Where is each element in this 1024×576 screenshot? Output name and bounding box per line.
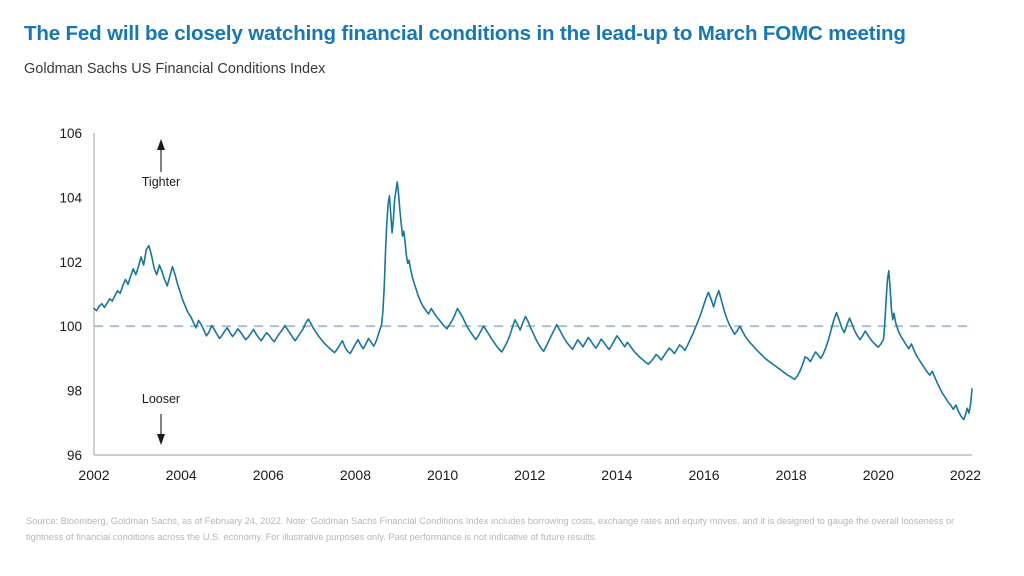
x-tick-label: 2016 bbox=[688, 467, 719, 483]
x-tick-label: 2006 bbox=[253, 467, 284, 483]
x-tick-label: 2020 bbox=[863, 467, 894, 483]
tighter-label: Tighter bbox=[142, 175, 180, 189]
y-tick-label: 106 bbox=[59, 126, 82, 141]
x-tick-label: 2010 bbox=[427, 467, 458, 483]
x-tick-label: 2014 bbox=[601, 467, 632, 483]
chart-container: 9698100102104106 20022004200620082010201… bbox=[0, 0, 1024, 500]
y-tick-label: 100 bbox=[59, 319, 82, 334]
x-tick-label: 2022 bbox=[950, 467, 981, 483]
y-tick-label: 102 bbox=[59, 255, 82, 270]
y-tick-label: 96 bbox=[67, 448, 82, 463]
looser-label: Looser bbox=[142, 392, 180, 406]
looser-arrowhead-icon bbox=[157, 434, 165, 445]
y-axis-labels: 9698100102104106 bbox=[59, 126, 82, 463]
x-tick-label: 2012 bbox=[514, 467, 545, 483]
x-tick-label: 2002 bbox=[78, 467, 109, 483]
source-footnote: Source: Bloomberg, Goldman Sachs, as of … bbox=[26, 513, 990, 546]
line-chart: 9698100102104106 20022004200620082010201… bbox=[0, 0, 1024, 500]
footer-bar bbox=[0, 562, 1024, 576]
tighter-arrowhead-icon bbox=[157, 139, 165, 150]
x-tick-label: 2008 bbox=[340, 467, 371, 483]
y-tick-label: 104 bbox=[59, 190, 82, 205]
x-tick-label: 2018 bbox=[776, 467, 807, 483]
fci-series-line bbox=[94, 182, 972, 420]
x-axis-labels: 2002200420062008201020122014201620182020… bbox=[78, 467, 981, 483]
chart-page: The Fed will be closely watching financi… bbox=[0, 0, 1024, 576]
tighter-annotation: Tighter bbox=[142, 139, 180, 189]
x-tick-label: 2004 bbox=[166, 467, 197, 483]
looser-annotation: Looser bbox=[142, 392, 180, 445]
y-tick-label: 98 bbox=[67, 384, 82, 399]
